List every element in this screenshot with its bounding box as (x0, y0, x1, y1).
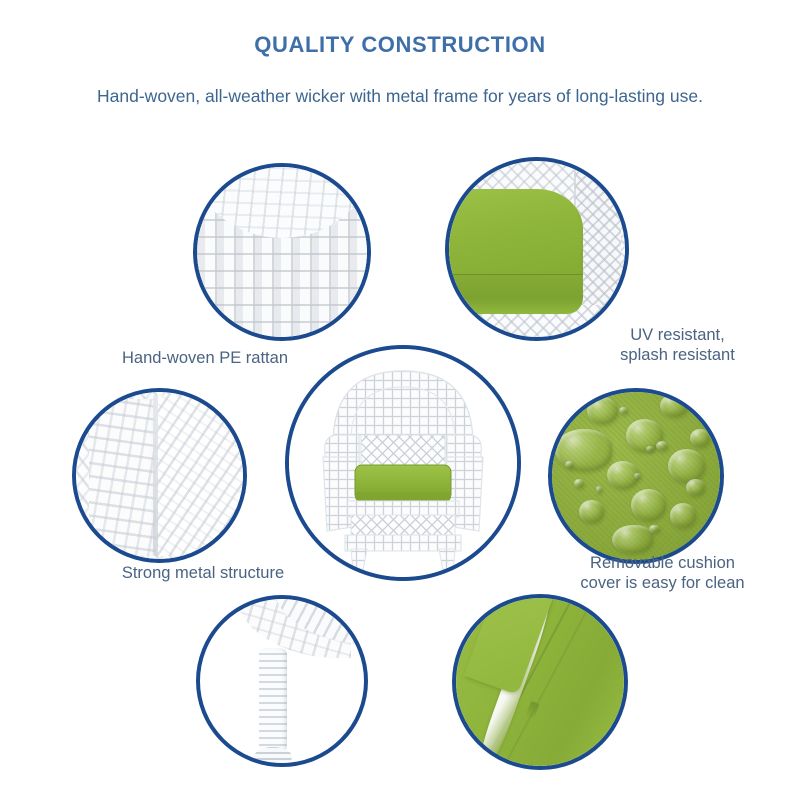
frame-corner-left-face (89, 399, 159, 556)
detail-image-chair-leg (196, 595, 368, 767)
cushion-closeup-photo (449, 161, 625, 337)
chair-leg-photo (200, 599, 364, 763)
water-beading-photo (552, 392, 720, 560)
water-droplet (668, 449, 705, 483)
water-droplet (686, 479, 704, 496)
water-droplet (565, 461, 573, 468)
water-droplet (656, 441, 668, 451)
page-subtitle: Hand-woven, all-weather wicker with meta… (0, 86, 800, 107)
water-droplet (612, 525, 652, 554)
feature-image-removable-cushion-cover (548, 388, 724, 564)
detail-image-cushion-zipper (452, 594, 628, 770)
center-product-image-full-chair (285, 345, 521, 581)
cushion-front-edge (449, 275, 583, 314)
rattan-weave-photo (197, 167, 367, 337)
frame-corner-edge (153, 395, 158, 555)
feature-image-hand-woven-pe-rattan (193, 163, 371, 341)
full-chair-photo (289, 349, 517, 577)
cushion-top-surface (449, 189, 583, 281)
page-title: QUALITY CONSTRUCTION (0, 32, 800, 58)
caption-uv-splash-resistant: UV resistant, splash resistant (560, 325, 795, 365)
water-droplet (660, 394, 689, 418)
cushion-zipper-photo (456, 598, 624, 766)
water-droplet (587, 397, 617, 424)
infographic-page: QUALITY CONSTRUCTION Hand-woven, all-wea… (0, 0, 800, 800)
frame-corner-right-face (156, 395, 243, 555)
caption-hand-woven-pe-rattan: Hand-woven PE rattan (60, 348, 350, 368)
water-droplet (555, 429, 612, 471)
leg-shaft-weave (259, 648, 287, 760)
water-droplet (596, 486, 603, 493)
wicker-chair-illustration (289, 349, 517, 577)
water-droplet (574, 479, 584, 487)
water-droplet (579, 500, 604, 524)
caption-removable-cushion-cover: Removable cushion cover is easy for clea… (530, 553, 795, 593)
frame-corner-photo (76, 392, 243, 559)
feature-image-strong-metal-structure (72, 388, 247, 563)
water-droplet (649, 525, 659, 533)
water-droplet (619, 407, 627, 414)
leg-foot-cap (254, 747, 292, 763)
feature-image-uv-splash-resistant (445, 157, 629, 341)
caption-strong-metal-structure: Strong metal structure (58, 563, 348, 583)
